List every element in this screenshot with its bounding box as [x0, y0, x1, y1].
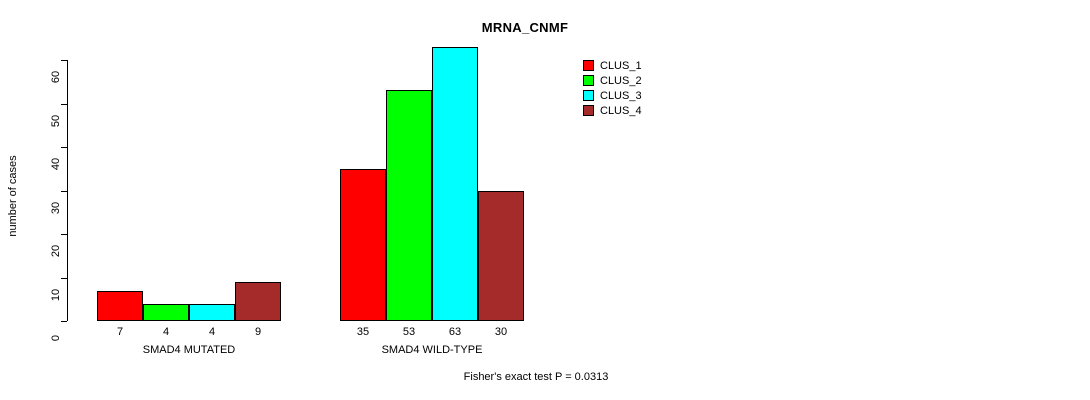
y-axis-tick-label: 0 [50, 320, 62, 356]
y-axis-tick-label: 60 [50, 59, 62, 95]
bar-value-label: 63 [432, 326, 478, 338]
legend-color-swatch [583, 60, 594, 71]
bar [478, 191, 524, 322]
x-axis-group-label: SMAD4 MUTATED [97, 344, 281, 356]
y-axis-tick-label: 10 [50, 277, 62, 313]
legend-item-label: CLUS_1 [600, 60, 642, 72]
legend-color-swatch [583, 90, 594, 101]
chart-page: MRNA_CNMF 0102030405060 number of cases … [0, 0, 1090, 400]
legend: CLUS_1CLUS_2CLUS_3CLUS_4 [583, 58, 642, 118]
bar [189, 304, 235, 321]
legend-item-label: CLUS_3 [600, 90, 642, 102]
bar [340, 169, 386, 321]
footer-caption: Fisher's exact test P = 0.0313 [0, 371, 1081, 383]
bar-value-label: 7 [97, 326, 143, 338]
y-axis-tick-label: 40 [50, 146, 62, 182]
legend-item: CLUS_1 [583, 58, 642, 73]
bar-value-label: 30 [478, 326, 524, 338]
y-axis-tick-label: 50 [50, 103, 62, 139]
bar-value-label: 53 [386, 326, 432, 338]
y-axis-tick-label: 30 [50, 190, 62, 226]
bar-value-label: 9 [235, 326, 281, 338]
bar-value-label: 4 [189, 326, 235, 338]
y-axis-title: number of cases [7, 136, 19, 256]
legend-color-swatch [583, 105, 594, 116]
legend-item: CLUS_4 [583, 103, 642, 118]
y-axis-tick-label: 20 [50, 233, 62, 269]
legend-item: CLUS_2 [583, 73, 642, 88]
bar [235, 282, 281, 321]
bar [432, 47, 478, 321]
legend-color-swatch [583, 75, 594, 86]
y-axis-line [67, 60, 68, 321]
bar [386, 90, 432, 321]
legend-item-label: CLUS_2 [600, 75, 642, 87]
bar [97, 291, 143, 321]
bar-value-label: 4 [143, 326, 189, 338]
plot-area: 0102030405060 number of cases 7449SMAD4 … [0, 0, 1090, 400]
legend-item-label: CLUS_4 [600, 105, 642, 117]
legend-item: CLUS_3 [583, 88, 642, 103]
bar-value-label: 35 [340, 326, 386, 338]
x-axis-group-label: SMAD4 WILD-TYPE [340, 344, 524, 356]
bar [143, 304, 189, 321]
